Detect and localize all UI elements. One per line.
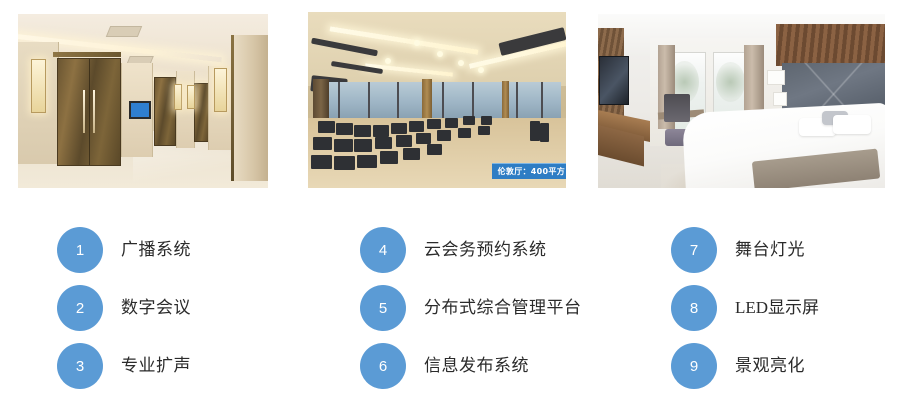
lobby-scene — [18, 14, 268, 188]
feature-item-3[interactable]: 3 专业扩声 — [57, 343, 297, 389]
hall-scene: 伦敦厅：400平方 — [308, 12, 566, 188]
photo-hotel-elevator-lobby — [18, 14, 268, 188]
wall-sconce — [214, 68, 227, 112]
door-handle — [83, 90, 85, 132]
audience-chair — [437, 130, 451, 141]
audience-chair — [478, 126, 490, 135]
door-seam — [89, 59, 90, 165]
audience-chair — [391, 123, 407, 134]
audience-chair — [481, 116, 492, 125]
floor-lamp — [767, 70, 785, 85]
ceiling-vent — [106, 26, 142, 37]
feature-label: 云会务预约系统 — [424, 241, 547, 260]
audience-chair — [416, 133, 431, 144]
audience-chair — [334, 139, 353, 152]
feature-item-1[interactable]: 1 广播系统 — [57, 227, 297, 273]
audience-chair — [357, 155, 377, 168]
audience-chair — [380, 151, 398, 164]
audience-chair — [311, 155, 332, 169]
wood-wall-panel — [776, 24, 885, 66]
feature-item-6[interactable]: 6 信息发布系统 — [360, 343, 600, 389]
wall-sconce — [31, 59, 46, 113]
feature-label: 分布式综合管理平台 — [424, 299, 582, 318]
audience-chair — [373, 125, 389, 137]
feature-item-2[interactable]: 2 数字会议 — [57, 285, 297, 331]
audience-chair — [354, 139, 372, 152]
stacked-chairs — [530, 121, 540, 141]
audience-chair — [313, 137, 332, 150]
feature-label: 信息发布系统 — [424, 357, 529, 376]
hall-pillar — [502, 81, 509, 118]
feature-number-badge: 3 — [57, 343, 103, 389]
audience-chair — [409, 121, 424, 132]
feature-item-5[interactable]: 5 分布式综合管理平台 — [360, 285, 600, 331]
desk-chair — [664, 94, 690, 122]
ceiling-downlight — [437, 51, 443, 57]
feature-column-1: 1 广播系统 2 数字会议 3 专业扩声 — [0, 205, 300, 414]
feature-number-badge: 2 — [57, 285, 103, 331]
lobby-column — [232, 35, 268, 181]
audience-chair — [445, 118, 458, 128]
feature-label: 专业扩声 — [121, 357, 191, 376]
feature-item-9[interactable]: 9 景观亮化 — [671, 343, 900, 389]
audience-chair — [354, 125, 371, 137]
ceiling-downlight — [414, 40, 420, 46]
audience-chair — [334, 156, 355, 170]
elevator-door — [194, 83, 209, 142]
hall-caption-label: 伦敦厅：400平方 — [492, 163, 566, 179]
feature-item-4[interactable]: 4 云会务预约系统 — [360, 227, 600, 273]
feature-item-8[interactable]: 8 LED显示屏 — [671, 285, 900, 331]
feature-label: LED显示屏 — [735, 299, 819, 318]
ceiling-downlight — [458, 60, 464, 66]
audience-chair — [336, 123, 353, 135]
feature-number-badge: 1 — [57, 227, 103, 273]
feature-label: 舞台灯光 — [735, 241, 805, 260]
stacked-chairs — [540, 123, 549, 142]
hall-pillar — [422, 79, 432, 121]
feature-list: 1 广播系统 2 数字会议 3 专业扩声 4 云会务预约系统 5 分布式综合管理… — [0, 205, 900, 414]
wall-lamp — [773, 92, 787, 106]
audience-chair — [463, 116, 475, 125]
audience-chair — [396, 135, 412, 147]
column-metal-edge — [231, 35, 234, 181]
audience-chair — [318, 121, 335, 133]
feature-number-badge: 4 — [360, 227, 406, 273]
feature-column-2: 4 云会务预约系统 5 分布式综合管理平台 6 信息发布系统 — [303, 205, 603, 414]
feature-label: 数字会议 — [121, 299, 191, 318]
feature-item-7[interactable]: 7 舞台灯光 — [671, 227, 900, 273]
feature-label: 广播系统 — [121, 241, 191, 260]
room-scene — [598, 14, 885, 188]
feature-number-badge: 5 — [360, 285, 406, 331]
ceiling-downlight — [478, 67, 484, 73]
feature-number-badge: 6 — [360, 343, 406, 389]
feature-number-badge: 7 — [671, 227, 717, 273]
elevator-door — [57, 58, 122, 166]
elevator-door — [154, 77, 176, 147]
television — [599, 56, 628, 105]
feature-label: 景观亮化 — [735, 357, 805, 376]
hall-window-wall — [313, 82, 561, 117]
audience-chair — [427, 119, 441, 129]
audience-chair — [375, 137, 392, 149]
wall-display-screen — [129, 101, 151, 119]
photo-conference-hall: 伦敦厅：400平方 — [308, 12, 566, 188]
door-handle — [93, 90, 95, 132]
photo-hotel-guest-room — [598, 14, 885, 188]
audience-chair — [458, 128, 471, 138]
wall-sconce — [174, 84, 182, 110]
wall-sconce — [187, 85, 195, 109]
pillow — [833, 115, 870, 134]
feature-column-3: 7 舞台灯光 8 LED显示屏 9 景观亮化 — [614, 205, 900, 414]
feature-number-badge: 8 — [671, 285, 717, 331]
audience-chair — [403, 148, 420, 160]
feature-number-badge: 9 — [671, 343, 717, 389]
audience-chair — [427, 144, 442, 155]
